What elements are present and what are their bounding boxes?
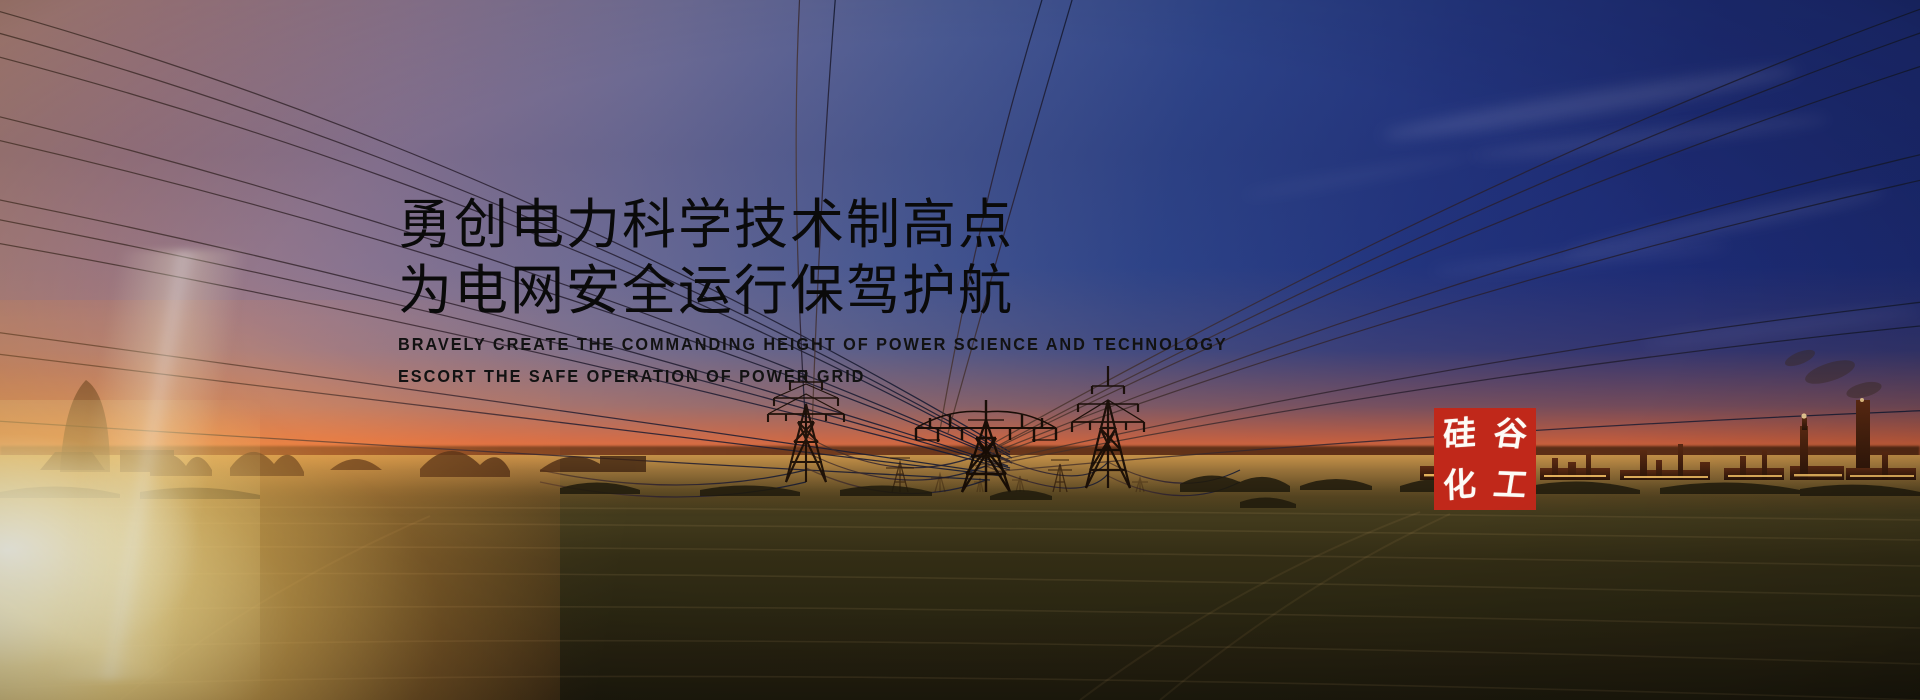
- logo-char-1: 硅: [1443, 416, 1476, 451]
- banner-text-block: 勇创电力科学技术制高点 为电网安全运行保驾护航 BRAVELY CREATE T…: [398, 192, 1498, 387]
- subtitle-line-2: ESCORT THE SAFE OPERATION OF POWER GRID: [398, 366, 1421, 387]
- lens-flare-streak: [0, 250, 400, 680]
- headline-line-2: 为电网安全运行保驾护航: [398, 258, 1498, 324]
- company-logo-seal[interactable]: 硅 谷 化 工: [1434, 408, 1536, 510]
- logo-char-4: 工: [1491, 468, 1529, 502]
- logo-char-2: 谷: [1491, 416, 1529, 451]
- smokestack-plume: [1783, 346, 1883, 401]
- headline-line-1: 勇创电力科学技术制高点: [398, 192, 1498, 258]
- subtitle-line-1: BRAVELY CREATE THE COMMANDING HEIGHT OF …: [398, 334, 1421, 355]
- logo-char-3: 化: [1443, 466, 1477, 503]
- hero-banner: 勇创电力科学技术制高点 为电网安全运行保驾护航 BRAVELY CREATE T…: [0, 0, 1920, 700]
- transmission-tower-left: [768, 370, 844, 482]
